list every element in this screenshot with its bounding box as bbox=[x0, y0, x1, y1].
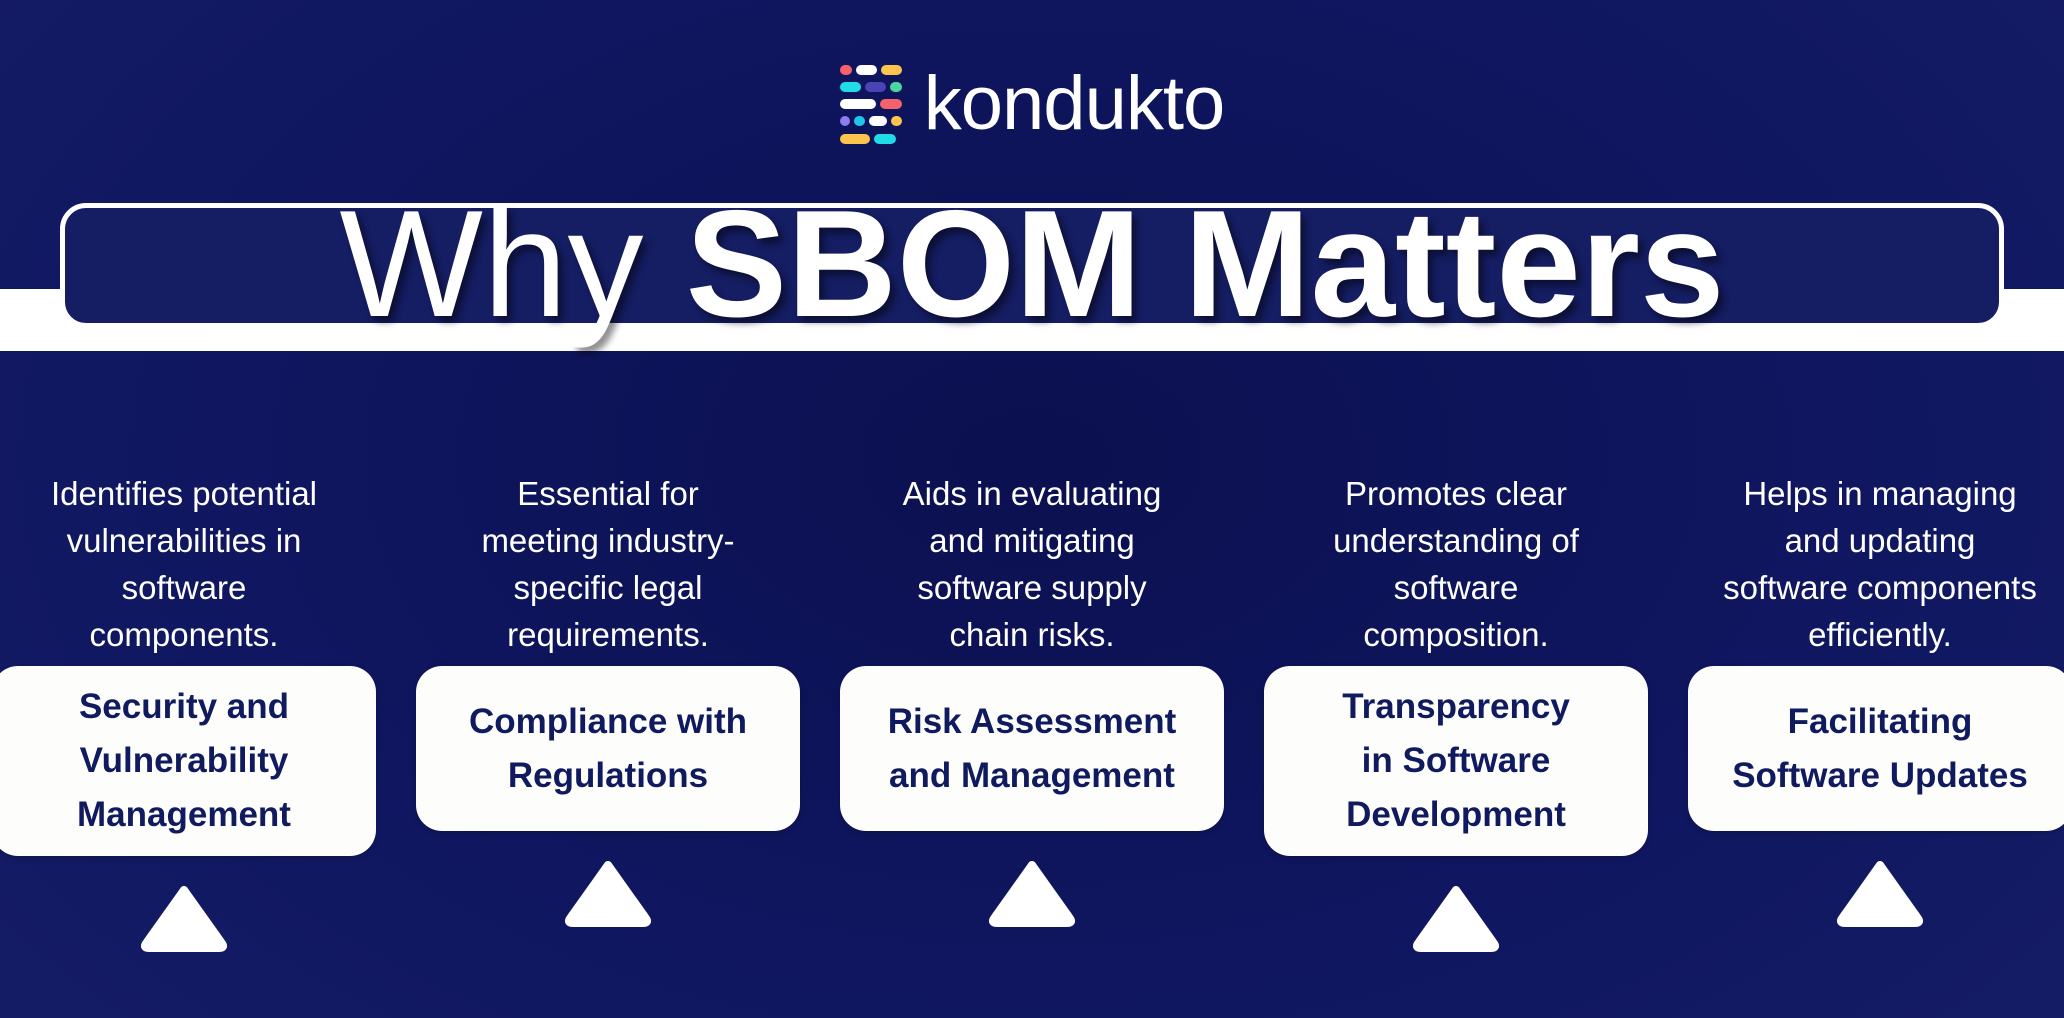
brand-wordmark: kondukto bbox=[924, 66, 1224, 142]
triangle-up-icon bbox=[1244, 884, 1668, 954]
benefit-card-title: Compliance with Regulations bbox=[469, 695, 747, 803]
title-light-word: Why bbox=[339, 179, 685, 349]
benefit-column-2: Essential for meeting industry- specific… bbox=[396, 470, 820, 929]
title-bold-word: SBOM Matters bbox=[686, 179, 1725, 349]
kondukto-mark-bar bbox=[891, 116, 901, 126]
kondukto-mark-bar bbox=[840, 134, 870, 144]
triangle-up-icon bbox=[820, 859, 1244, 929]
benefit-card-title: Risk Assessment and Management bbox=[888, 695, 1177, 803]
benefit-column-5: Helps in managing and updating software … bbox=[1668, 470, 2064, 929]
kondukto-mark-bar bbox=[890, 82, 902, 92]
page-title: Why SBOM Matters bbox=[0, 184, 2064, 344]
benefit-description: Essential for meeting industry- specific… bbox=[396, 470, 820, 666]
benefit-card-title: Security and Vulnerability Management bbox=[77, 680, 291, 842]
benefit-card[interactable]: Security and Vulnerability Management bbox=[0, 666, 376, 856]
triangle-up-icon bbox=[1668, 859, 2064, 929]
kondukto-mark-row-1 bbox=[840, 64, 902, 75]
triangle-up-icon bbox=[396, 859, 820, 929]
kondukto-mark-bar bbox=[880, 99, 902, 109]
benefit-columns: Identifies potential vulnerabilities in … bbox=[0, 470, 2064, 1018]
kondukto-mark-bar bbox=[865, 82, 886, 92]
benefit-card[interactable]: Facilitating Software Updates bbox=[1688, 666, 2064, 831]
kondukto-mark-bar bbox=[874, 134, 896, 144]
kondukto-mark-bar bbox=[881, 65, 902, 75]
benefit-column-4: Promotes clear understanding of software… bbox=[1244, 470, 1668, 954]
benefit-description: Helps in managing and updating software … bbox=[1668, 470, 2064, 666]
benefit-card-title: Transparency in Software Development bbox=[1342, 680, 1570, 842]
benefit-column-1: Identifies potential vulnerabilities in … bbox=[0, 470, 396, 954]
kondukto-mark-bar bbox=[856, 65, 877, 75]
benefit-card[interactable]: Transparency in Software Development bbox=[1264, 666, 1648, 856]
kondukto-mark-row-4 bbox=[840, 116, 902, 127]
benefit-description: Aids in evaluating and mitigating softwa… bbox=[820, 470, 1244, 666]
kondukto-mark-bar bbox=[869, 116, 888, 126]
title-section: Why SBOM Matters bbox=[0, 186, 2064, 346]
benefit-description: Promotes clear understanding of software… bbox=[1244, 470, 1668, 666]
triangle-up-icon bbox=[0, 884, 396, 954]
kondukto-mark-bar bbox=[840, 82, 861, 92]
brand-logo: kondukto bbox=[0, 58, 2064, 150]
kondukto-mark-bar bbox=[840, 99, 876, 109]
benefit-card-title: Facilitating Software Updates bbox=[1732, 695, 2028, 803]
benefit-description: Identifies potential vulnerabilities in … bbox=[0, 470, 396, 666]
kondukto-mark-bar bbox=[854, 116, 864, 126]
kondukto-mark-icon bbox=[840, 64, 902, 144]
benefit-card[interactable]: Risk Assessment and Management bbox=[840, 666, 1224, 831]
infographic-canvas: kondukto Why SBOM Matters Identifies pot… bbox=[0, 0, 2064, 1018]
kondukto-mark-bar bbox=[840, 65, 853, 75]
kondukto-mark-row-3 bbox=[840, 99, 902, 110]
kondukto-mark-row-5 bbox=[840, 133, 902, 144]
benefit-column-3: Aids in evaluating and mitigating softwa… bbox=[820, 470, 1244, 929]
kondukto-mark-row-2 bbox=[840, 81, 902, 92]
benefit-card[interactable]: Compliance with Regulations bbox=[416, 666, 800, 831]
kondukto-mark-bar bbox=[840, 116, 850, 126]
